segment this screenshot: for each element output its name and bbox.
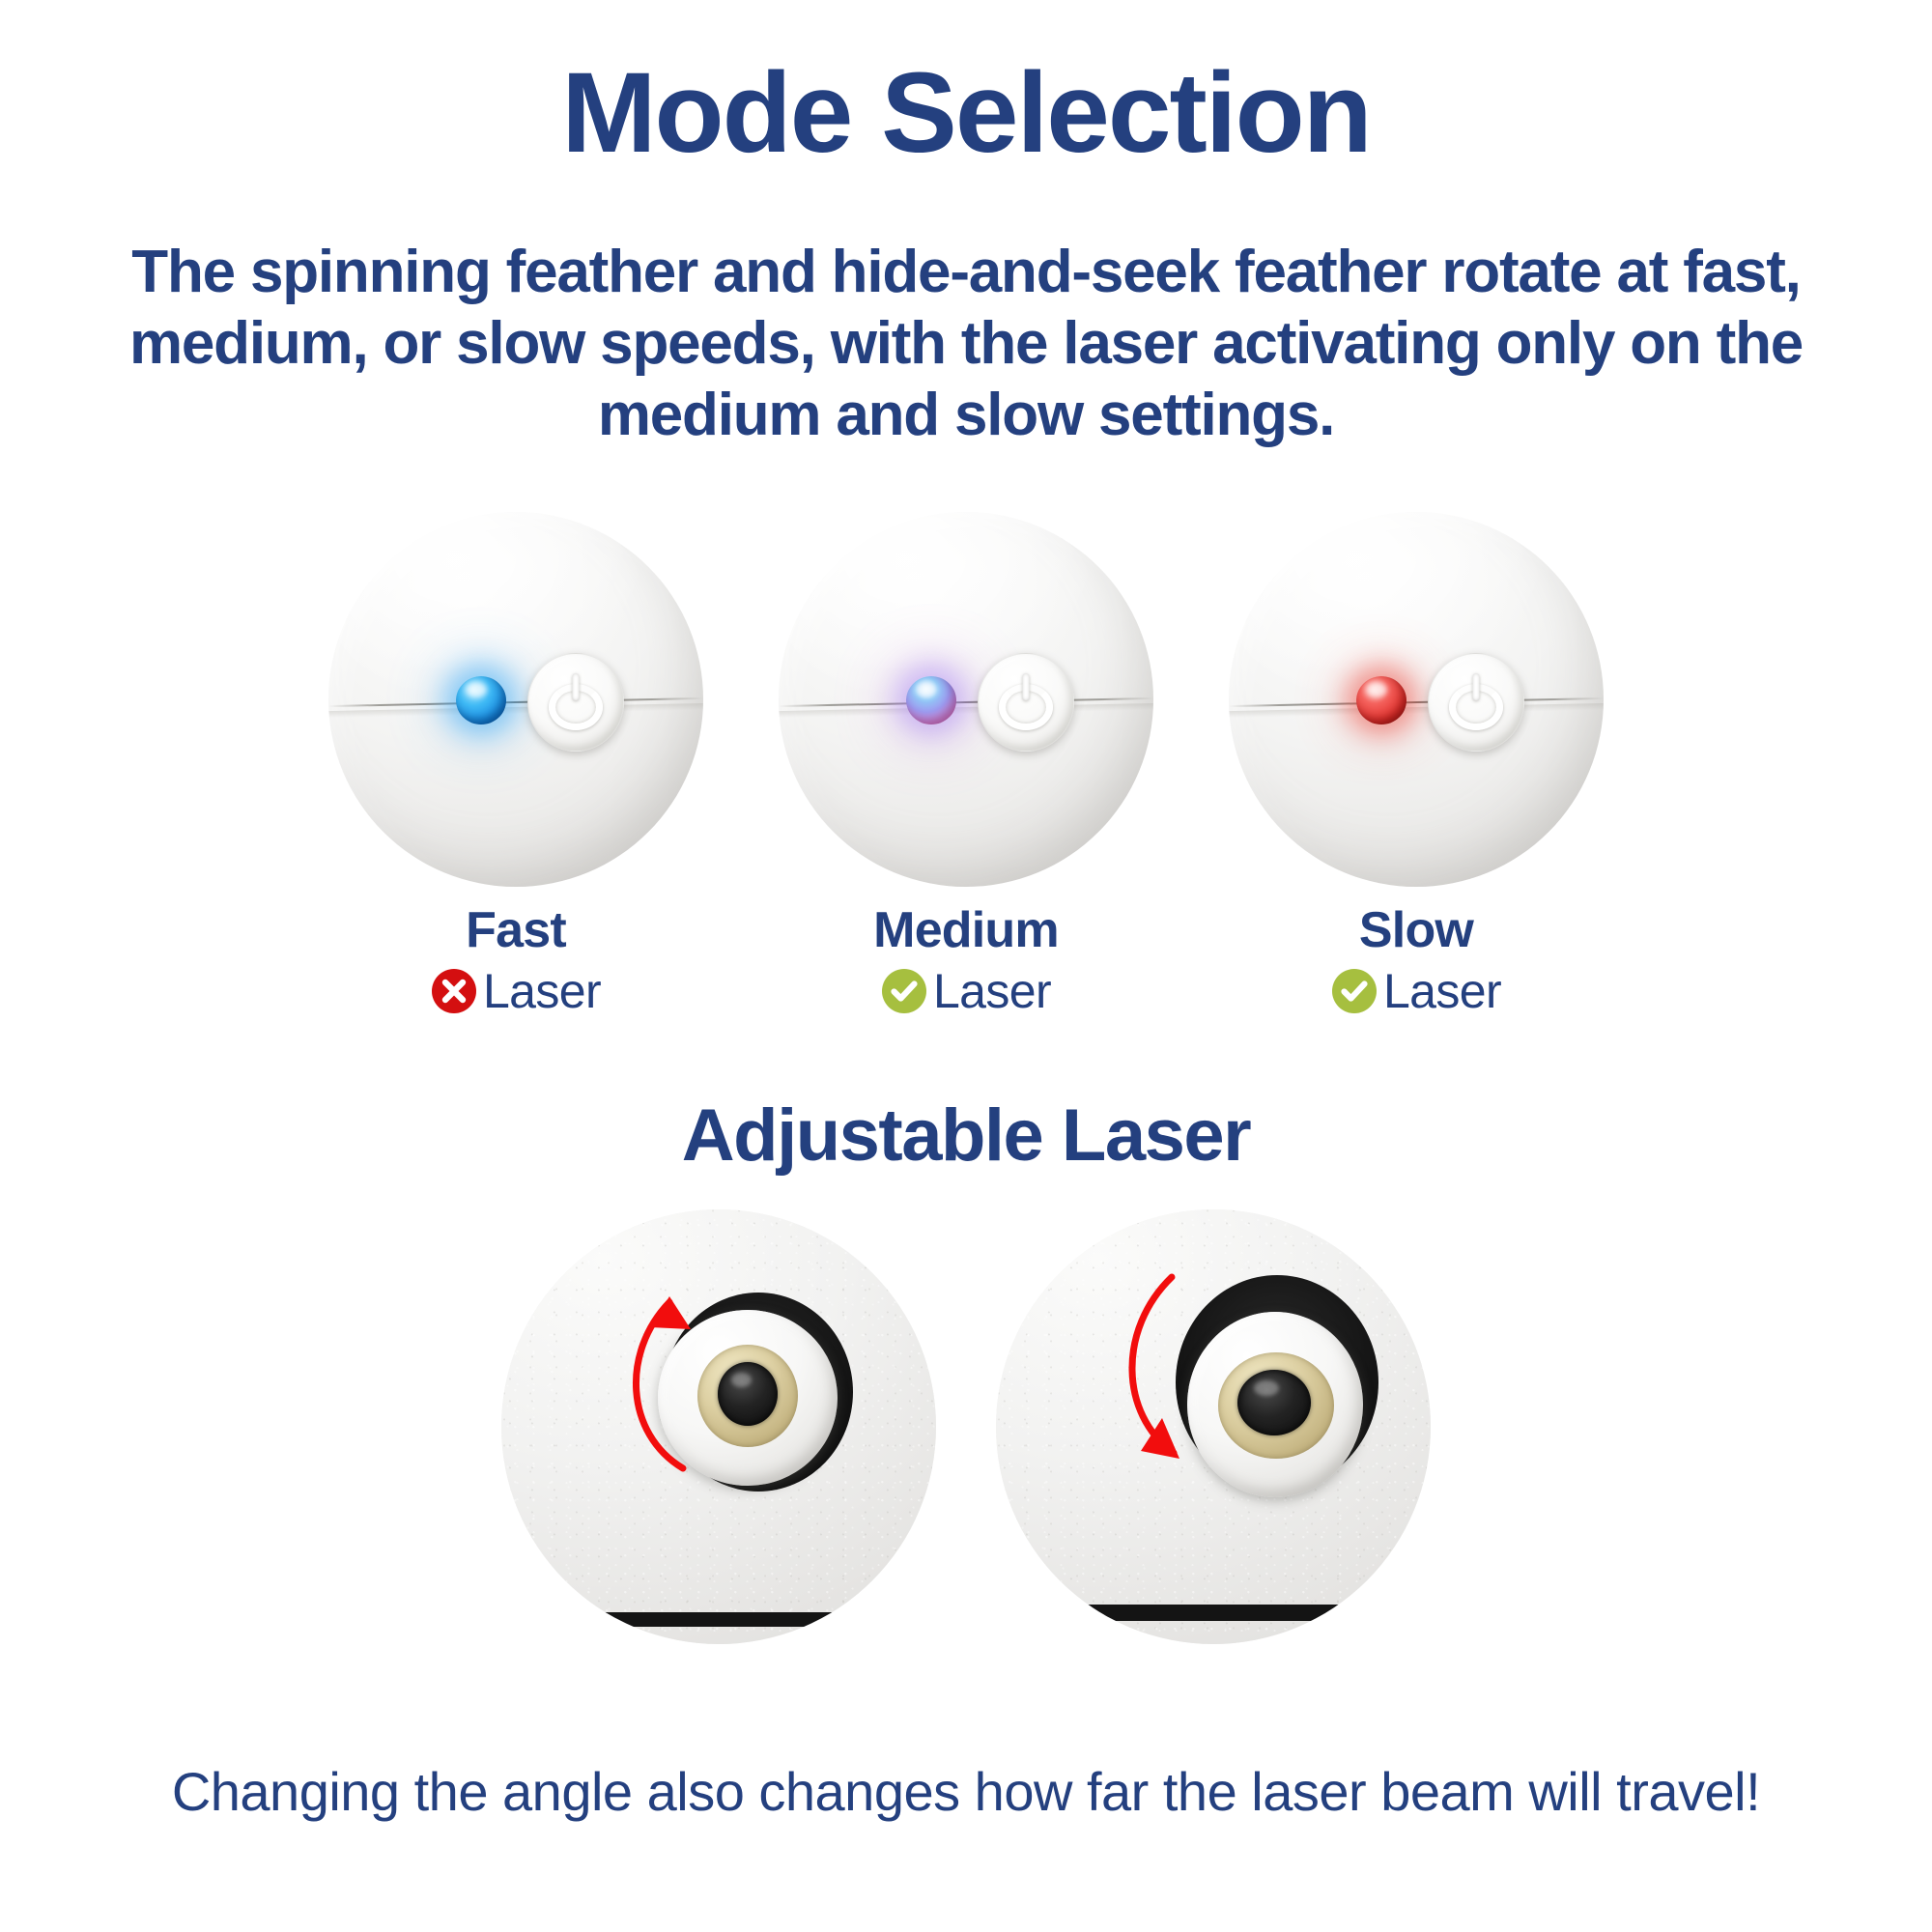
infographic-page: Mode Selection The spinning feather and … bbox=[0, 0, 1932, 1932]
power-icon bbox=[549, 675, 603, 729]
laser-status-fast: Laser bbox=[431, 963, 601, 1019]
page-subtitle: The spinning feather and hide-and-seek f… bbox=[116, 237, 1816, 450]
bottom-caption: Changing the angle also changes how far … bbox=[145, 1758, 1787, 1827]
laser-photo-left bbox=[501, 1209, 936, 1644]
mode-item-slow: Slow Laser bbox=[1223, 512, 1609, 1019]
laser-status-medium: Laser bbox=[881, 963, 1051, 1019]
laser-lens bbox=[1237, 1370, 1311, 1435]
mode-list: Fast Laser bbox=[0, 512, 1932, 1072]
laser-text-medium: Laser bbox=[933, 963, 1051, 1019]
base-band bbox=[501, 1612, 936, 1627]
led-indicator-blue bbox=[456, 676, 506, 724]
x-circle-icon bbox=[431, 968, 477, 1014]
mode-item-fast: Fast Laser bbox=[323, 512, 709, 1019]
base-band bbox=[996, 1605, 1431, 1621]
section-heading-adjustable-laser: Adjustable Laser bbox=[0, 1094, 1932, 1178]
power-icon bbox=[999, 675, 1053, 729]
laser-status-slow: Laser bbox=[1331, 963, 1501, 1019]
product-photo-medium bbox=[779, 512, 1153, 887]
check-circle-icon bbox=[1331, 968, 1378, 1014]
page-title: Mode Selection bbox=[0, 56, 1932, 170]
product-photo-fast bbox=[328, 512, 703, 887]
led-indicator-red bbox=[1356, 676, 1406, 724]
laser-text-fast: Laser bbox=[483, 963, 601, 1019]
laser-text-slow: Laser bbox=[1383, 963, 1501, 1019]
power-button[interactable] bbox=[527, 653, 624, 752]
mode-label-medium: Medium bbox=[873, 904, 1059, 957]
power-button[interactable] bbox=[1428, 653, 1524, 752]
laser-photo-right bbox=[996, 1209, 1431, 1644]
product-photo-slow bbox=[1229, 512, 1604, 887]
power-button[interactable] bbox=[978, 653, 1074, 752]
mode-item-medium: Medium Laser bbox=[773, 512, 1159, 1019]
power-icon bbox=[1449, 675, 1503, 729]
mode-label-fast: Fast bbox=[466, 904, 566, 957]
led-indicator-blue-pink bbox=[906, 676, 956, 724]
laser-lens bbox=[718, 1362, 778, 1426]
check-circle-icon bbox=[881, 968, 927, 1014]
adjustable-laser-photos bbox=[0, 1209, 1932, 1712]
mode-label-slow: Slow bbox=[1359, 904, 1473, 957]
